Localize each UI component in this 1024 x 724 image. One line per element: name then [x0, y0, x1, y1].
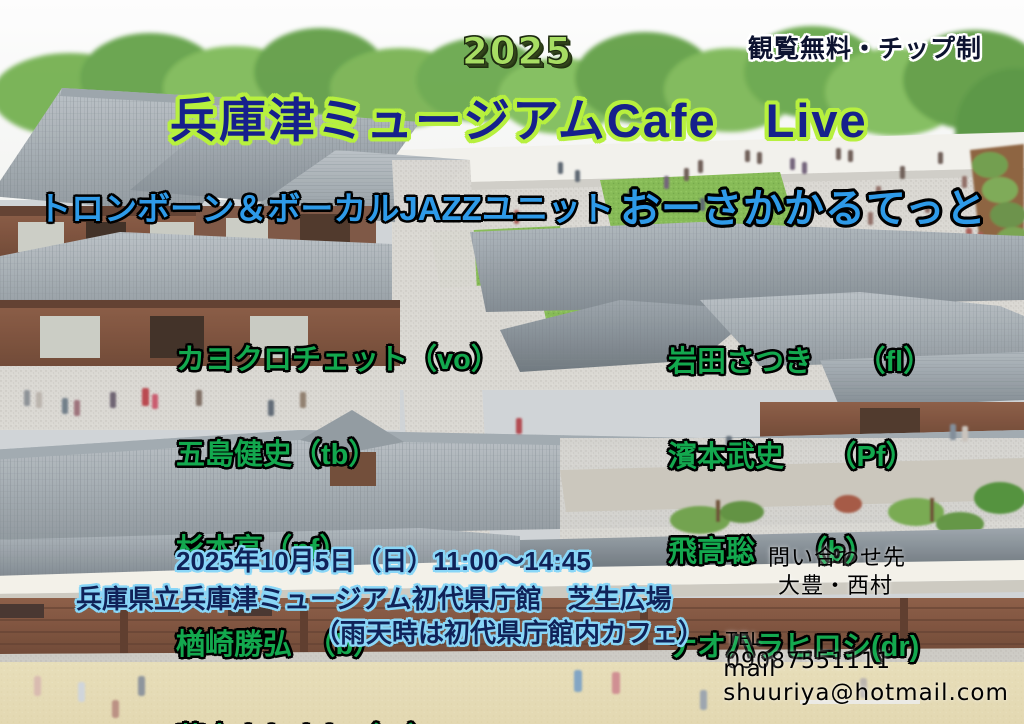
- list-item: 濱本武史 （Pf）: [668, 440, 932, 474]
- contact-heading: 問い合わせ先: [768, 546, 906, 569]
- mail-label: mail: [723, 656, 776, 682]
- year-label: 2025: [462, 33, 573, 72]
- admission-note: 観覧無料・チップ制: [748, 36, 982, 62]
- rain-venue-note: （雨天時は初代県庁館内カフェ）: [314, 620, 704, 647]
- mail-address[interactable]: shuuriya@hotmail.com: [723, 680, 1009, 706]
- list-item: 岩田さつき （fl）: [668, 345, 932, 379]
- band-name: おーさかかるてっと: [620, 188, 987, 230]
- list-item: 五島健史（tb）: [176, 438, 500, 472]
- list-item: カヨクロチェット（vo）: [176, 343, 500, 377]
- event-date: 2025年10月5日（日）11:00〜14:45: [176, 548, 591, 575]
- member-list-left: カヨクロチェット（vo） 五島健史（tb） 杉本亨（pf） 楢崎勝弘 （b） 藤…: [176, 282, 500, 724]
- event-poster: 2025 観覧無料・チップ制 兵庫津ミュージアムCafe Live トロンボーン…: [0, 0, 1024, 724]
- event-venue: 兵庫県立兵庫津ミュージアム初代県庁館 芝生広場: [76, 586, 672, 613]
- contact-person: 大豊・西村: [778, 574, 893, 597]
- page-title: 兵庫津ミュージアムCafe Live: [170, 96, 868, 145]
- unit-description: トロンボーン＆ボーカルJAZZユニット: [38, 192, 614, 227]
- contact-email: mail shuuriya@hotmail.com: [690, 633, 1009, 724]
